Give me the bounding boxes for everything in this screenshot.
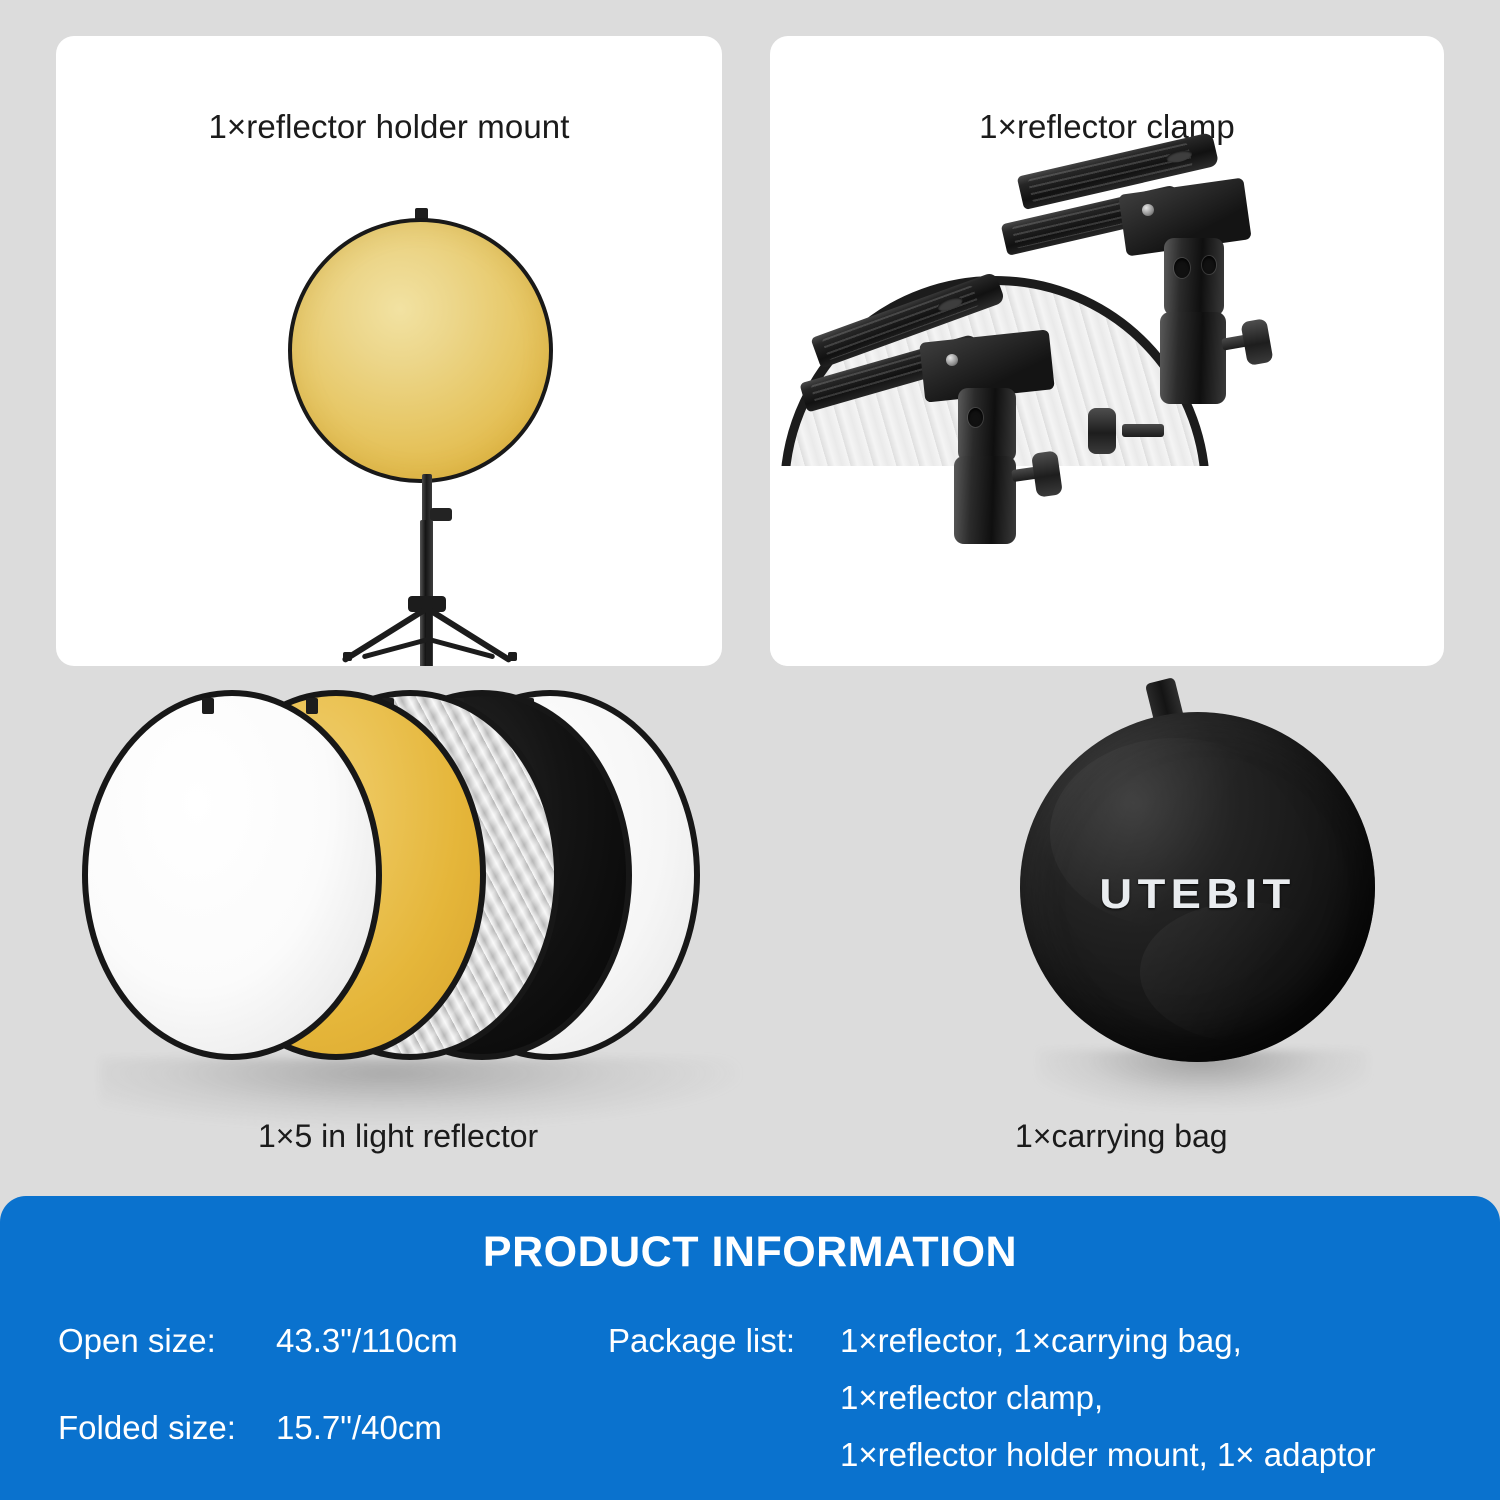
swivel-hole [1202, 256, 1216, 274]
spec-row-folded-size: Folded size: 15.7"/40cm [58, 1411, 598, 1444]
reflector-disc-white [82, 690, 382, 1060]
swivel-tighten-knob-upper[interactable] [1240, 318, 1273, 366]
spec-label-open-size: Open size: [58, 1324, 276, 1357]
caption-light-reflector: 1×5 in light reflector [258, 1118, 538, 1155]
gold-reflector-disc [288, 218, 553, 483]
swivel-hole [1174, 258, 1190, 278]
clamp-pivot-screw [1142, 204, 1154, 216]
clamp-pivot-screw [946, 354, 958, 366]
swivel-lower-barrel [1160, 312, 1226, 404]
package-list-row: Package list: 1×reflector, 1×carrying ba… [608, 1324, 1488, 1471]
swivel-tighten-knob-lower[interactable] [1088, 408, 1116, 454]
package-list-values: 1×reflector, 1×carrying bag, 1×reflector… [840, 1324, 1376, 1471]
tripod-foot-right [508, 652, 517, 661]
swivel-upper-barrel [958, 388, 1016, 462]
reflector-disc-tab [306, 698, 318, 714]
spec-value-folded-size: 15.7"/40cm [276, 1411, 442, 1444]
caption-carrying-bag: 1×carrying bag [1015, 1118, 1228, 1155]
swivel-knob-shaft-lower [1122, 424, 1164, 437]
tripod-leg-right [426, 606, 512, 663]
tripod-foot-left [343, 652, 352, 661]
swivel-lower-barrel [954, 456, 1016, 544]
package-list-label: Package list: [608, 1324, 840, 1471]
utebit-brand-logo: UTEBIT [1006, 870, 1389, 918]
spec-value-open-size: 43.3"/110cm [276, 1324, 458, 1357]
reflector-disc-tab [202, 698, 214, 714]
reflector-disc-stack [60, 690, 760, 1110]
package-list-line: 1×reflector, 1×carrying bag, [840, 1324, 1376, 1357]
panel-reflector-holder-mount: 1×reflector holder mount [56, 36, 722, 666]
carrying-bag-illustration: UTEBIT [1020, 690, 1420, 1110]
spec-row-open-size: Open size: 43.3"/110cm [58, 1324, 598, 1357]
reflector-stand-illustration [56, 36, 722, 666]
spec-label-folded-size: Folded size: [58, 1411, 276, 1444]
scene-crop-mask [770, 466, 1300, 666]
tripod-leg-left [341, 606, 427, 663]
tripod-leg-center [426, 606, 432, 666]
package-list-column: Package list: 1×reflector, 1×carrying ba… [608, 1324, 1488, 1471]
specs-column: Open size: 43.3"/110cm Folded size: 15.7… [58, 1324, 598, 1498]
stand-lock-knob-icon [430, 508, 452, 521]
package-list-line: 1×reflector clamp, [840, 1381, 1376, 1414]
swivel-upper-barrel [1164, 238, 1224, 316]
reflector-clamp-illustration [770, 36, 1444, 666]
swivel-hole [968, 408, 983, 427]
product-information-title: PRODUCT INFORMATION [0, 1228, 1500, 1277]
bag-fabric-fold [1140, 902, 1350, 1042]
panel-reflector-clamp: 1×reflector clamp [770, 36, 1444, 666]
package-list-line: 1×reflector holder mount, 1× adaptor [840, 1438, 1376, 1471]
product-information-banner: PRODUCT INFORMATION Open size: 43.3"/110… [0, 1196, 1500, 1500]
